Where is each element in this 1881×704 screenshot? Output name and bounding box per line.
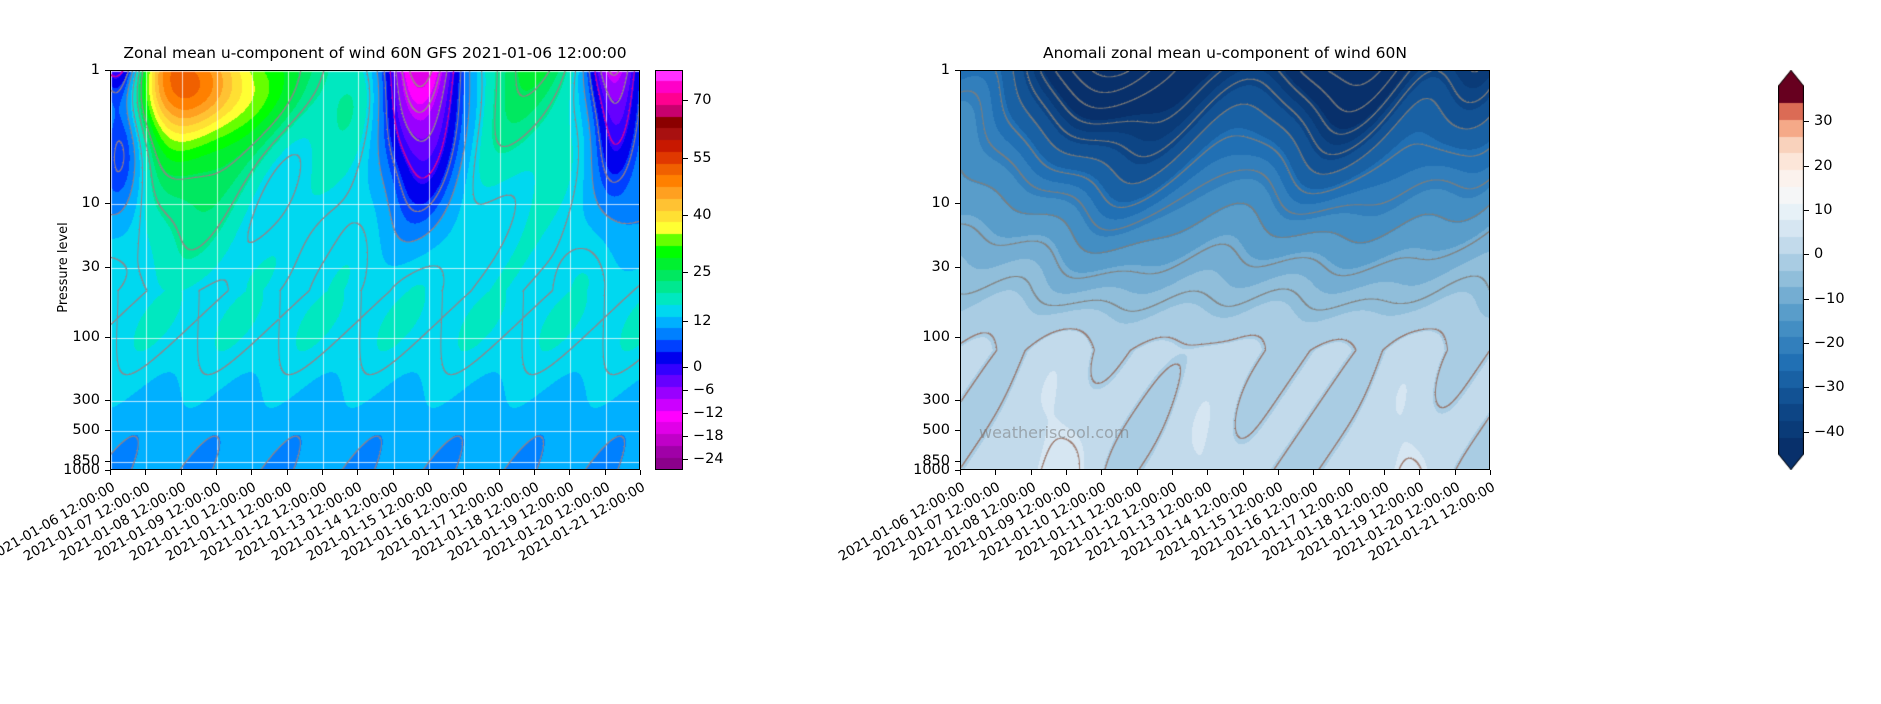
y-tick-label: 500	[922, 422, 950, 438]
x-tick-mark	[1384, 470, 1385, 475]
y-tick-mark	[955, 337, 960, 338]
x-tick-mark	[1455, 470, 1456, 475]
colorbar-tick-label: −30	[1814, 379, 1845, 395]
y-tick-mark	[955, 400, 960, 401]
x-tick-mark	[145, 470, 146, 475]
colorbar-tick-label: 0	[1814, 246, 1823, 262]
x-tick-mark	[110, 470, 111, 475]
y-tick-label: 100	[72, 329, 100, 345]
x-tick-mark	[428, 470, 429, 475]
colorbar-tick-mark	[683, 158, 688, 159]
y-tick-mark	[105, 400, 110, 401]
y-tick-mark	[955, 430, 960, 431]
x-tick-mark	[499, 470, 500, 475]
colorbar-tick-mark	[1804, 432, 1809, 433]
left-panel-title: Zonal mean u-component of wind 60N GFS 2…	[110, 44, 640, 62]
colorbar-tick-mark	[1804, 343, 1809, 344]
left-y-axis-label: Pressure level	[56, 222, 71, 313]
x-tick-mark	[393, 470, 394, 475]
colorbar-tick-mark	[683, 367, 688, 368]
y-tick-label: 1	[91, 62, 100, 78]
colorbar-tick-mark	[683, 321, 688, 322]
left-chart-panel: Zonal mean u-component of wind 60N GFS 2…	[110, 70, 640, 470]
colorbar-tick-mark	[683, 272, 688, 273]
y-tick-label: 10	[932, 195, 950, 211]
colorbar-tick-label: 25	[693, 264, 711, 280]
x-tick-mark	[181, 470, 182, 475]
y-tick-mark	[105, 430, 110, 431]
colorbar-tick-mark	[683, 390, 688, 391]
colorbar-tick-label: 10	[1814, 202, 1832, 218]
colorbar-tick-label: 30	[1814, 113, 1832, 129]
colorbar-tick-label: −24	[693, 451, 724, 467]
y-tick-label: 1000	[63, 462, 100, 478]
x-tick-mark	[1137, 470, 1138, 475]
y-tick-mark	[955, 461, 960, 462]
colorbar-tick-label: −12	[693, 405, 724, 421]
y-tick-label: 10	[82, 195, 100, 211]
x-tick-mark	[569, 470, 570, 475]
x-tick-mark	[1031, 470, 1032, 475]
x-tick-mark	[640, 470, 641, 475]
left-y-axis-ticks: 110301003005008501000	[110, 70, 640, 470]
colorbar-tick-label: 20	[1814, 158, 1832, 174]
x-tick-mark	[1490, 470, 1491, 475]
x-tick-mark	[287, 470, 288, 475]
x-tick-mark	[1101, 470, 1102, 475]
colorbar-tick-label: −18	[693, 428, 724, 444]
colorbar-tick-mark	[683, 100, 688, 101]
x-tick-mark	[1172, 470, 1173, 475]
y-tick-label: 30	[932, 259, 950, 275]
y-tick-mark	[105, 461, 110, 462]
x-tick-mark	[1349, 470, 1350, 475]
x-tick-mark	[1207, 470, 1208, 475]
right-panel-title: Anomali zonal mean u-component of wind 6…	[960, 44, 1490, 62]
colorbar-tick-label: −40	[1814, 424, 1845, 440]
y-tick-label: 300	[922, 392, 950, 408]
x-tick-mark	[322, 470, 323, 475]
x-tick-mark	[995, 470, 996, 475]
x-tick-mark	[1066, 470, 1067, 475]
left-colorbar: 70554025120−6−12−18−24	[655, 70, 683, 470]
colorbar-tick-label: 70	[693, 92, 711, 108]
colorbar-tick-mark	[1804, 121, 1809, 122]
colorbar-tick-label: 0	[693, 359, 702, 375]
x-tick-mark	[463, 470, 464, 475]
colorbar-tick-mark	[683, 413, 688, 414]
colorbar-tick-label: −20	[1814, 335, 1845, 351]
colorbar-tick-mark	[683, 436, 688, 437]
right-y-axis-ticks: 110301003005008501000	[960, 70, 1490, 470]
y-tick-mark	[105, 203, 110, 204]
x-tick-mark	[1243, 470, 1244, 475]
colorbar-tick-label: 12	[693, 313, 711, 329]
y-tick-label: 100	[922, 329, 950, 345]
colorbar-tick-mark	[1804, 166, 1809, 167]
x-tick-mark	[251, 470, 252, 475]
x-tick-mark	[1278, 470, 1279, 475]
colorbar-tick-label: −10	[1814, 291, 1845, 307]
figure-canvas: Zonal mean u-component of wind 60N GFS 2…	[0, 0, 1881, 704]
colorbar-tick-mark	[683, 459, 688, 460]
colorbar-tick-mark	[1804, 254, 1809, 255]
y-tick-mark	[105, 337, 110, 338]
y-tick-mark	[105, 70, 110, 71]
x-tick-mark	[1419, 470, 1420, 475]
y-tick-label: 1000	[913, 462, 950, 478]
x-tick-mark	[960, 470, 961, 475]
y-tick-mark	[105, 267, 110, 268]
y-tick-label: 1	[941, 62, 950, 78]
y-tick-label: 300	[72, 392, 100, 408]
colorbar-tick-mark	[1804, 387, 1809, 388]
colorbar-tick-label: 40	[693, 207, 711, 223]
x-tick-mark	[534, 470, 535, 475]
x-tick-mark	[216, 470, 217, 475]
x-tick-mark	[605, 470, 606, 475]
y-tick-mark	[955, 70, 960, 71]
x-tick-mark	[357, 470, 358, 475]
x-tick-mark	[1313, 470, 1314, 475]
colorbar-tick-label: 55	[693, 150, 711, 166]
colorbar-tick-mark	[683, 215, 688, 216]
right-colorbar: 3020100−10−20−30−40	[1778, 70, 1804, 470]
colorbar-tick-mark	[1804, 210, 1809, 211]
colorbar-tick-label: −6	[693, 382, 714, 398]
right-chart-panel: Anomali zonal mean u-component of wind 6…	[960, 70, 1490, 470]
colorbar-tick-mark	[1804, 299, 1809, 300]
y-tick-mark	[955, 203, 960, 204]
y-tick-label: 30	[82, 259, 100, 275]
y-tick-label: 500	[72, 422, 100, 438]
y-tick-mark	[955, 267, 960, 268]
